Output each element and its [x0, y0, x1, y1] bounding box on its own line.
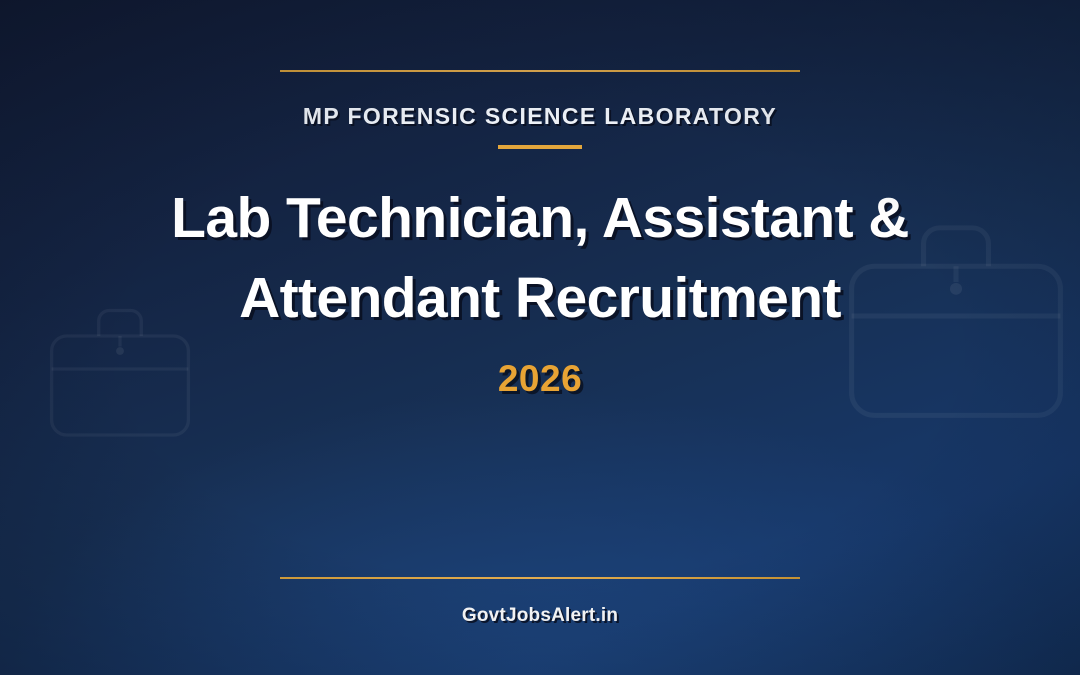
- headline-line-2: Attendant Recruitment: [60, 258, 1020, 338]
- bottom-divider: [280, 577, 800, 579]
- page-title: Lab Technician, Assistant & Attendant Re…: [60, 178, 1020, 338]
- subtitle-underline: [498, 145, 582, 149]
- top-divider: [280, 70, 800, 72]
- organization-name: MP FORENSIC SCIENCE LABORATORY: [0, 103, 1080, 130]
- recruitment-year: 2026: [0, 358, 1080, 400]
- recruitment-poster: MP FORENSIC SCIENCE LABORATORY Lab Techn…: [0, 0, 1080, 675]
- headline-line-1: Lab Technician, Assistant &: [60, 178, 1020, 258]
- source-website: GovtJobsAlert.in: [0, 605, 1080, 627]
